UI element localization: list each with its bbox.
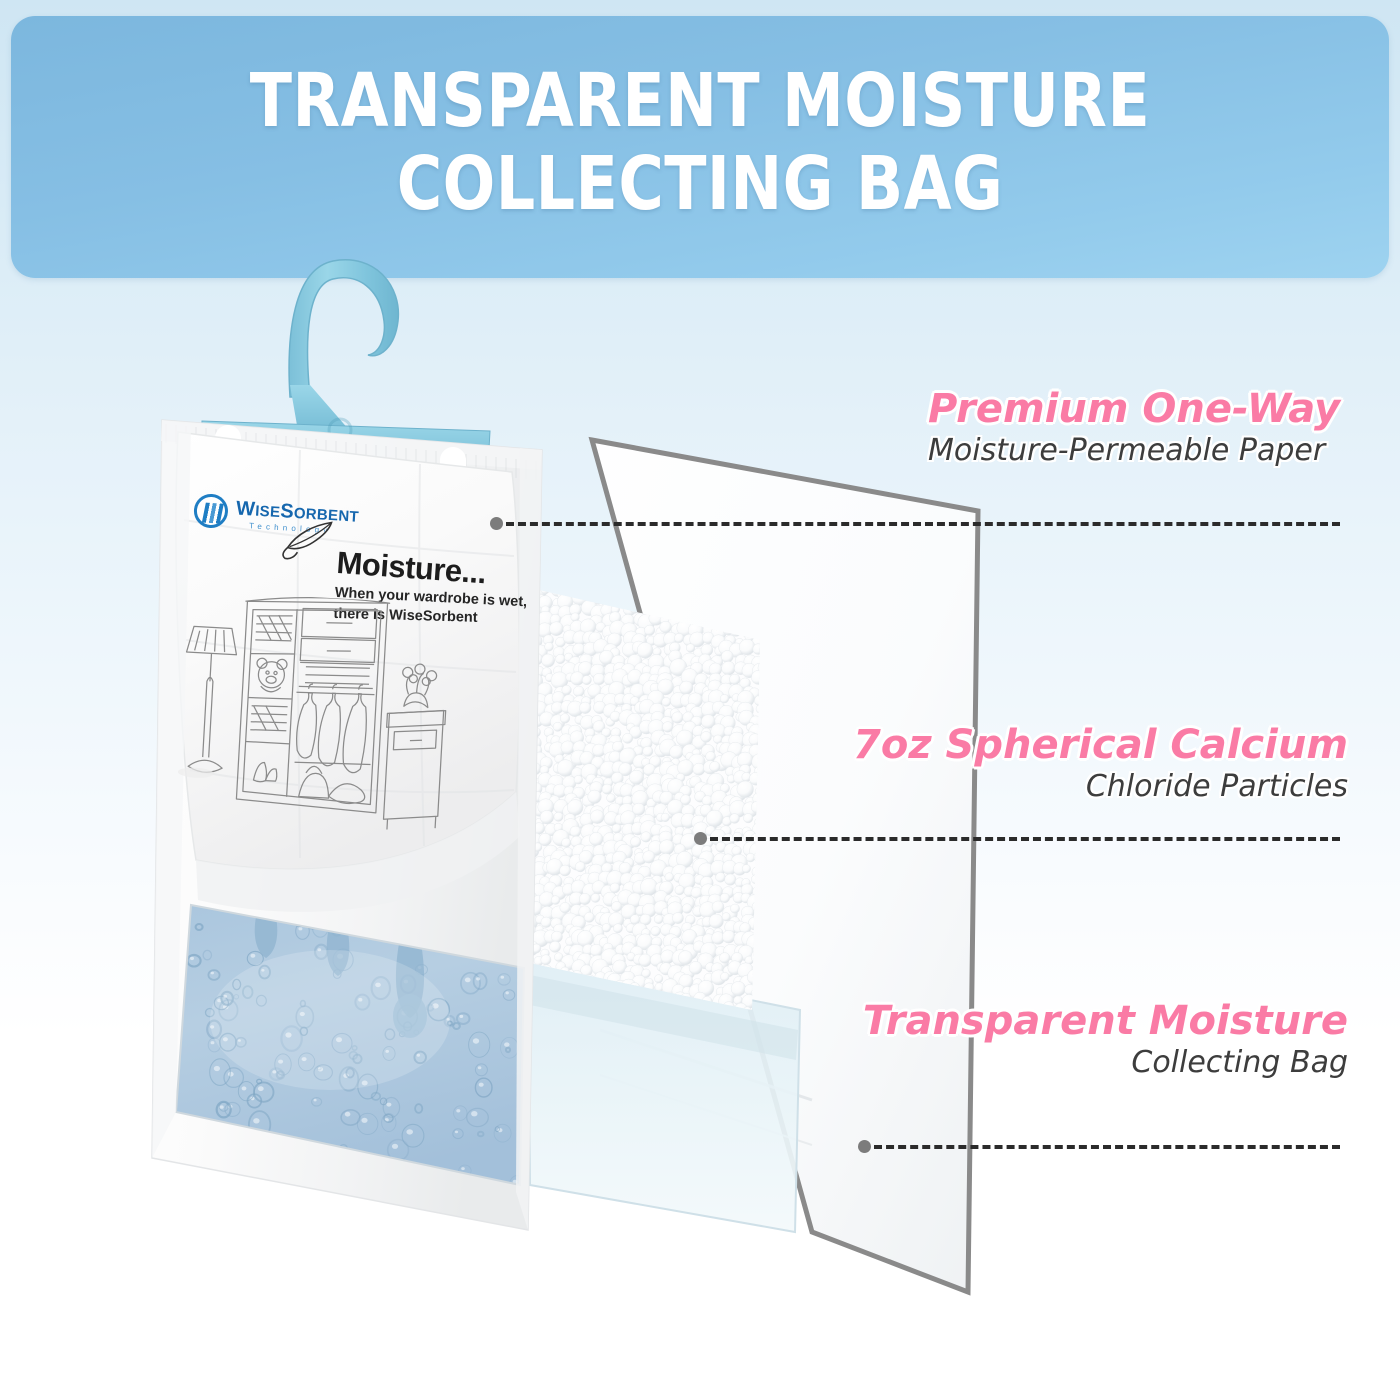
callout-3-line-2: Collecting Bag bbox=[863, 1044, 1348, 1082]
leader-dash-2 bbox=[710, 837, 1340, 841]
leader-dash-3 bbox=[874, 1145, 1340, 1149]
wardrobe-illustration bbox=[175, 590, 458, 840]
callout-premium-one-way: Premium One-Way Moisture-Permeable Paper bbox=[928, 386, 1340, 470]
leader-dot-2 bbox=[694, 832, 707, 845]
leader-dash-1 bbox=[506, 522, 1340, 526]
leader-line-3 bbox=[858, 1144, 1340, 1148]
infographic-canvas: TRANSPARENT MOISTURE COLLECTING BAG Wise… bbox=[0, 0, 1400, 1400]
callout-2-line-1: 7oz Spherical Calcium bbox=[853, 722, 1348, 768]
callout-3-line-1: Transparent Moisture bbox=[863, 998, 1348, 1044]
wisesorbent-mark-icon bbox=[193, 493, 229, 529]
callout-1-line-1: Premium One-Way bbox=[928, 386, 1340, 432]
callout-1-line-2: Moisture-Permeable Paper bbox=[928, 432, 1340, 470]
leader-dot-1 bbox=[490, 517, 503, 530]
leader-dot-3 bbox=[858, 1140, 871, 1153]
callout-2-line-2: Chloride Particles bbox=[853, 768, 1348, 806]
feather-icon bbox=[279, 515, 340, 565]
callout-collecting-bag: Transparent Moisture Collecting Bag bbox=[863, 998, 1348, 1082]
leader-line-2 bbox=[694, 836, 1340, 840]
leader-line-1 bbox=[490, 521, 1340, 525]
bag-print-layer: WISESORBENT Technology Moisture... When … bbox=[150, 395, 540, 1230]
callout-calcium-chloride: 7oz Spherical Calcium Chloride Particles bbox=[853, 722, 1348, 806]
